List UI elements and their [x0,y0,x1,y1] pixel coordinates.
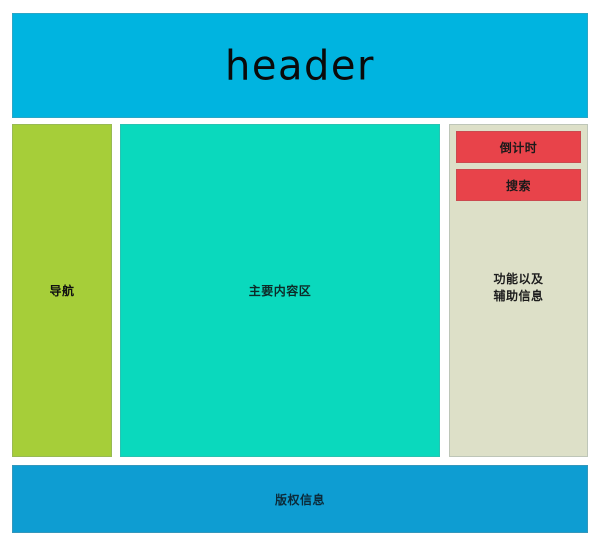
nav-label: 导航 [49,282,74,299]
countdown-button[interactable]: 倒计时 [456,131,581,163]
header-title: header [225,45,375,86]
search-button[interactable]: 搜索 [456,169,581,201]
aside-info-line-1: 功能以及 [450,271,587,288]
nav-region[interactable]: 导航 [12,124,112,457]
footer-region: 版权信息 [12,465,588,533]
footer-label: 版权信息 [275,491,325,508]
countdown-button-label: 倒计时 [500,139,538,156]
aside-info-text: 功能以及 辅助信息 [450,271,587,305]
header-region: header [12,13,588,118]
aside-region: 倒计时 搜索 功能以及 辅助信息 [449,124,588,457]
search-button-label: 搜索 [506,177,531,194]
main-content-region: 主要内容区 [120,124,440,457]
page-layout-wireframe: header 导航 主要内容区 倒计时 搜索 功能以及 辅助信息 版权信息 [0,0,600,550]
content-row: 导航 主要内容区 倒计时 搜索 功能以及 辅助信息 [12,124,588,457]
aside-info-line-2: 辅助信息 [450,288,587,305]
main-content-label: 主要内容区 [249,282,312,299]
